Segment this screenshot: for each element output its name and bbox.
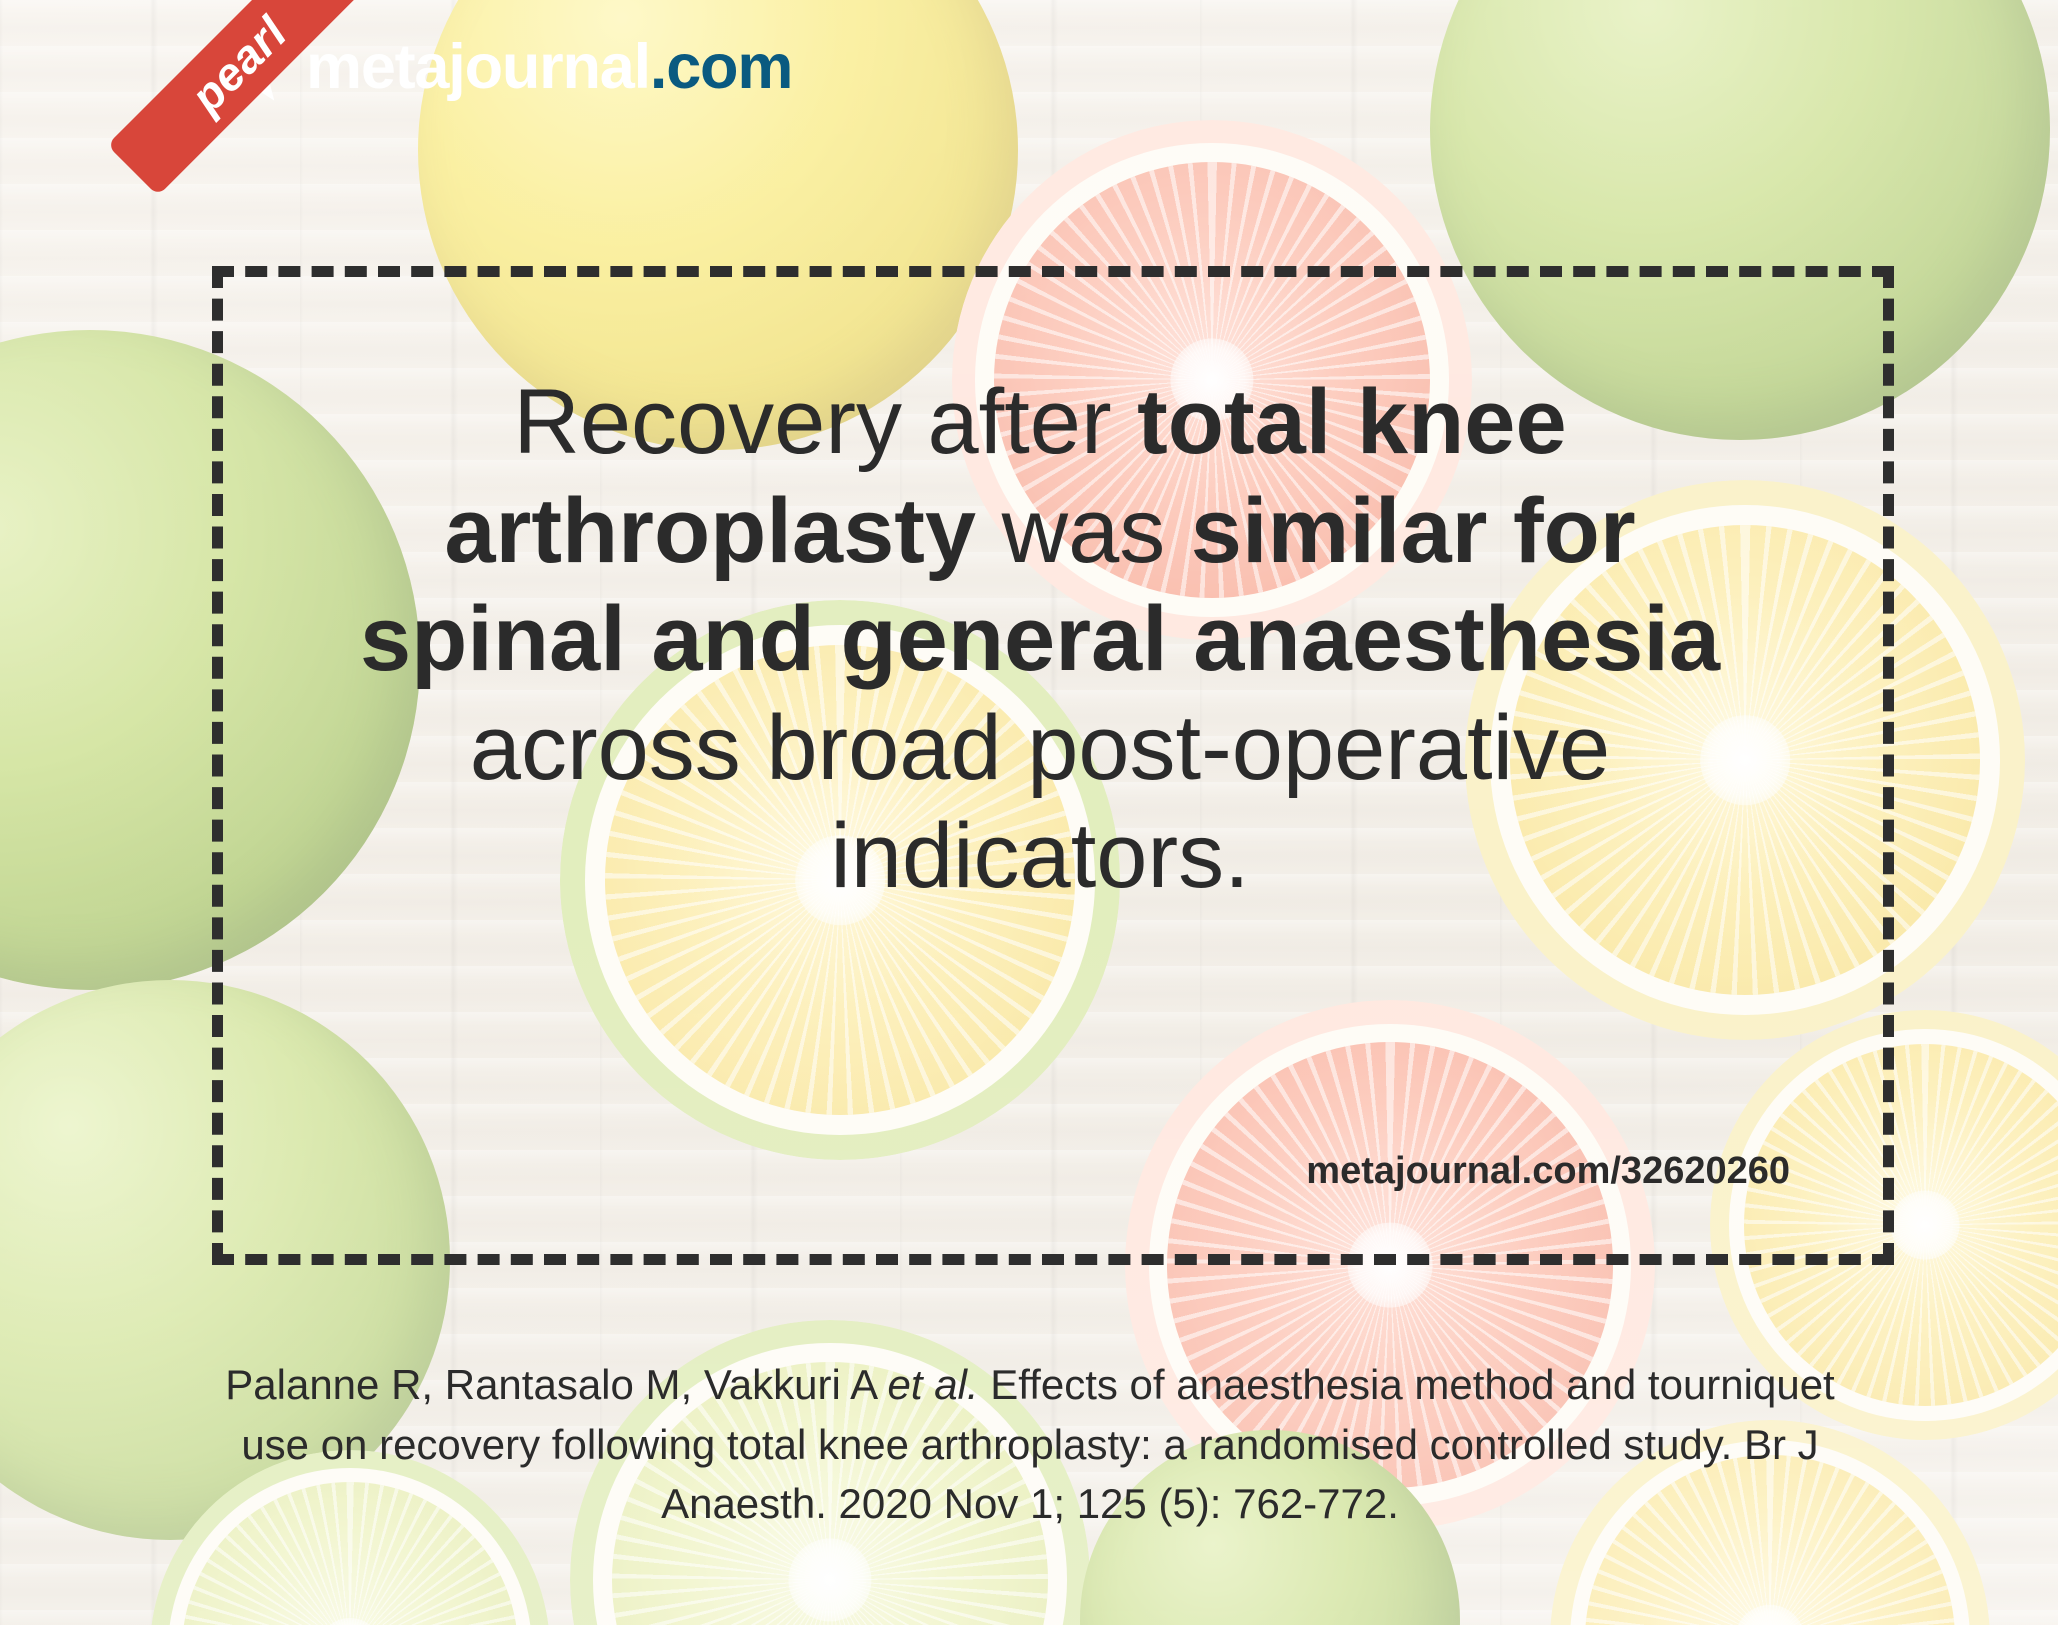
article-url[interactable]: metajournal.com/32620260 bbox=[0, 1150, 1790, 1193]
pearl-card: metajournal.com pearl Recovery after tot… bbox=[0, 0, 2058, 1625]
pearl-quote: Recovery after total knee arthroplasty w… bbox=[330, 368, 1750, 911]
citation: Palanne R, Rantasalo M, Vakkuri A et al.… bbox=[200, 1355, 1860, 1534]
brand-wordmark: metajournal.com bbox=[306, 36, 792, 99]
quote-line2-bold2: similar bbox=[1191, 480, 1488, 582]
quote-line1-bold: total knee bbox=[1137, 371, 1566, 473]
citation-etal: et al. bbox=[888, 1361, 979, 1408]
brand-tld: .com bbox=[650, 32, 792, 102]
quote-line4-plain: across broad bbox=[470, 697, 1002, 799]
brand-name: metajournal bbox=[306, 32, 650, 102]
quote-line2-bold: arthroplasty bbox=[444, 480, 976, 582]
quote-line1-plain: Recovery after bbox=[513, 371, 1137, 473]
citation-authors: Palanne R, Rantasalo M, Vakkuri A bbox=[225, 1361, 887, 1408]
quote-line4-bold: anaesthesia bbox=[1193, 588, 1720, 690]
quote-line2-plain: was bbox=[976, 480, 1191, 582]
article-url-label: metajournal.com/32620260 bbox=[1306, 1150, 1790, 1192]
